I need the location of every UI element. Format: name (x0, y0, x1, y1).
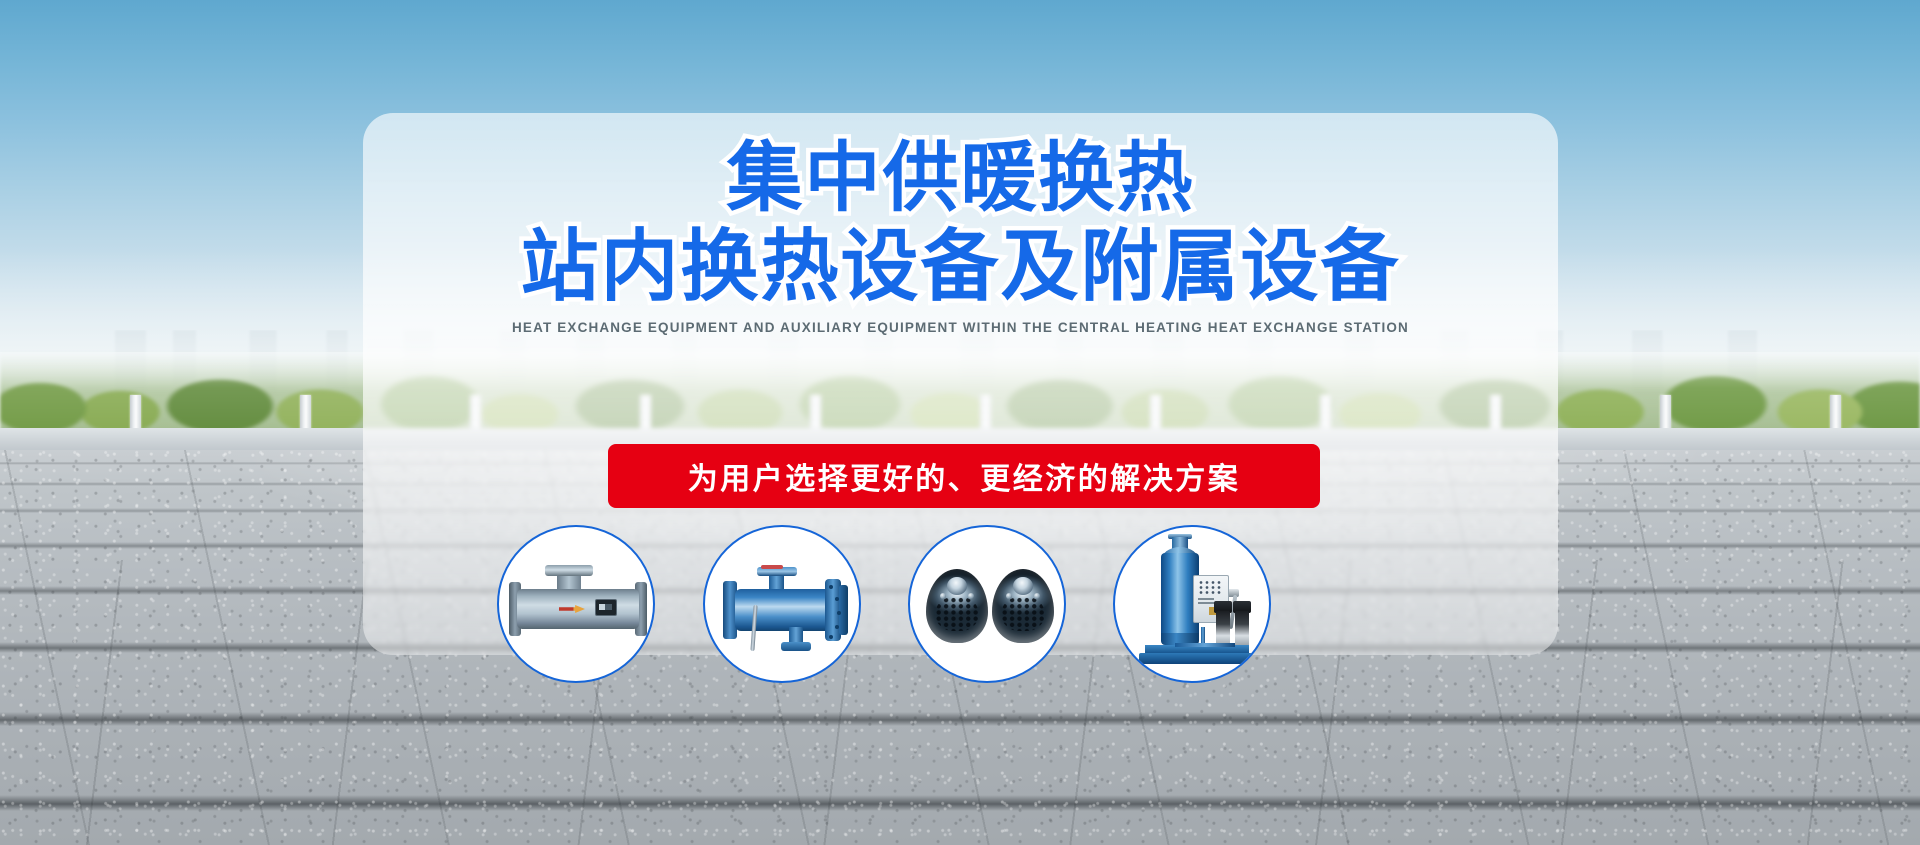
headline-line-1: 集中供暖换热 (363, 140, 1558, 216)
tube-sheet-hole-pattern (1001, 597, 1045, 631)
vessel-top-flange (545, 565, 593, 576)
tube-sheet-stud (940, 593, 946, 599)
tube-sheet-stud (1006, 593, 1012, 599)
subtitle-english: HEAT EXCHANGE EQUIPMENT AND AUXILIARY EQ… (363, 320, 1558, 335)
skid-base-frame (1139, 653, 1255, 664)
hero-banner: 集中供暖换热 站内换热设备及附属设备 HEAT EXCHANGE EQUIPME… (0, 0, 1920, 845)
exchanger-top-gasket (761, 565, 783, 569)
exchanger-head-cover (839, 585, 848, 635)
tagline-text: 为用户选择更好的、更经济的解决方案 (688, 454, 1241, 498)
tube-sheet-stud (1034, 593, 1040, 599)
product-circle-expansion-tank-skid[interactable] (1113, 525, 1271, 683)
exchanger-shell (735, 589, 831, 631)
product-circle-shell-and-tube-exchanger[interactable] (703, 525, 861, 683)
flange-bolt (829, 585, 833, 589)
tube-sheet-stud (968, 593, 974, 599)
flange-bolt (835, 625, 839, 629)
headline: 集中供暖换热 站内换热设备及附属设备 (363, 140, 1558, 306)
headline-line-2: 站内换热设备及附属设备 (363, 228, 1558, 306)
tube-sheet-center-boss (947, 577, 967, 595)
tube-sheet-center-boss (1013, 577, 1033, 595)
exchanger-bottom-flange (781, 642, 811, 651)
vessel-nameplate-marking (599, 604, 612, 610)
flange-bolt (837, 611, 841, 615)
tube-sheet-right (992, 569, 1054, 643)
tube-sheet-left (926, 569, 988, 643)
product-thumbnail-row (0, 525, 1920, 690)
skid-header-pipe (1175, 643, 1235, 647)
control-panel-buttons (1198, 580, 1222, 596)
tagline-ribbon: 为用户选择更好的、更经济的解决方案 (608, 444, 1320, 508)
control-panel-label (1198, 598, 1214, 600)
flange-bolt (829, 635, 833, 639)
product-circle-perforated-tube-sheets[interactable] (908, 525, 1066, 683)
flange-bolt (835, 597, 839, 601)
product-circle-heat-exchanger-vessel[interactable] (497, 525, 655, 683)
tube-sheet-hole-pattern (935, 597, 979, 631)
